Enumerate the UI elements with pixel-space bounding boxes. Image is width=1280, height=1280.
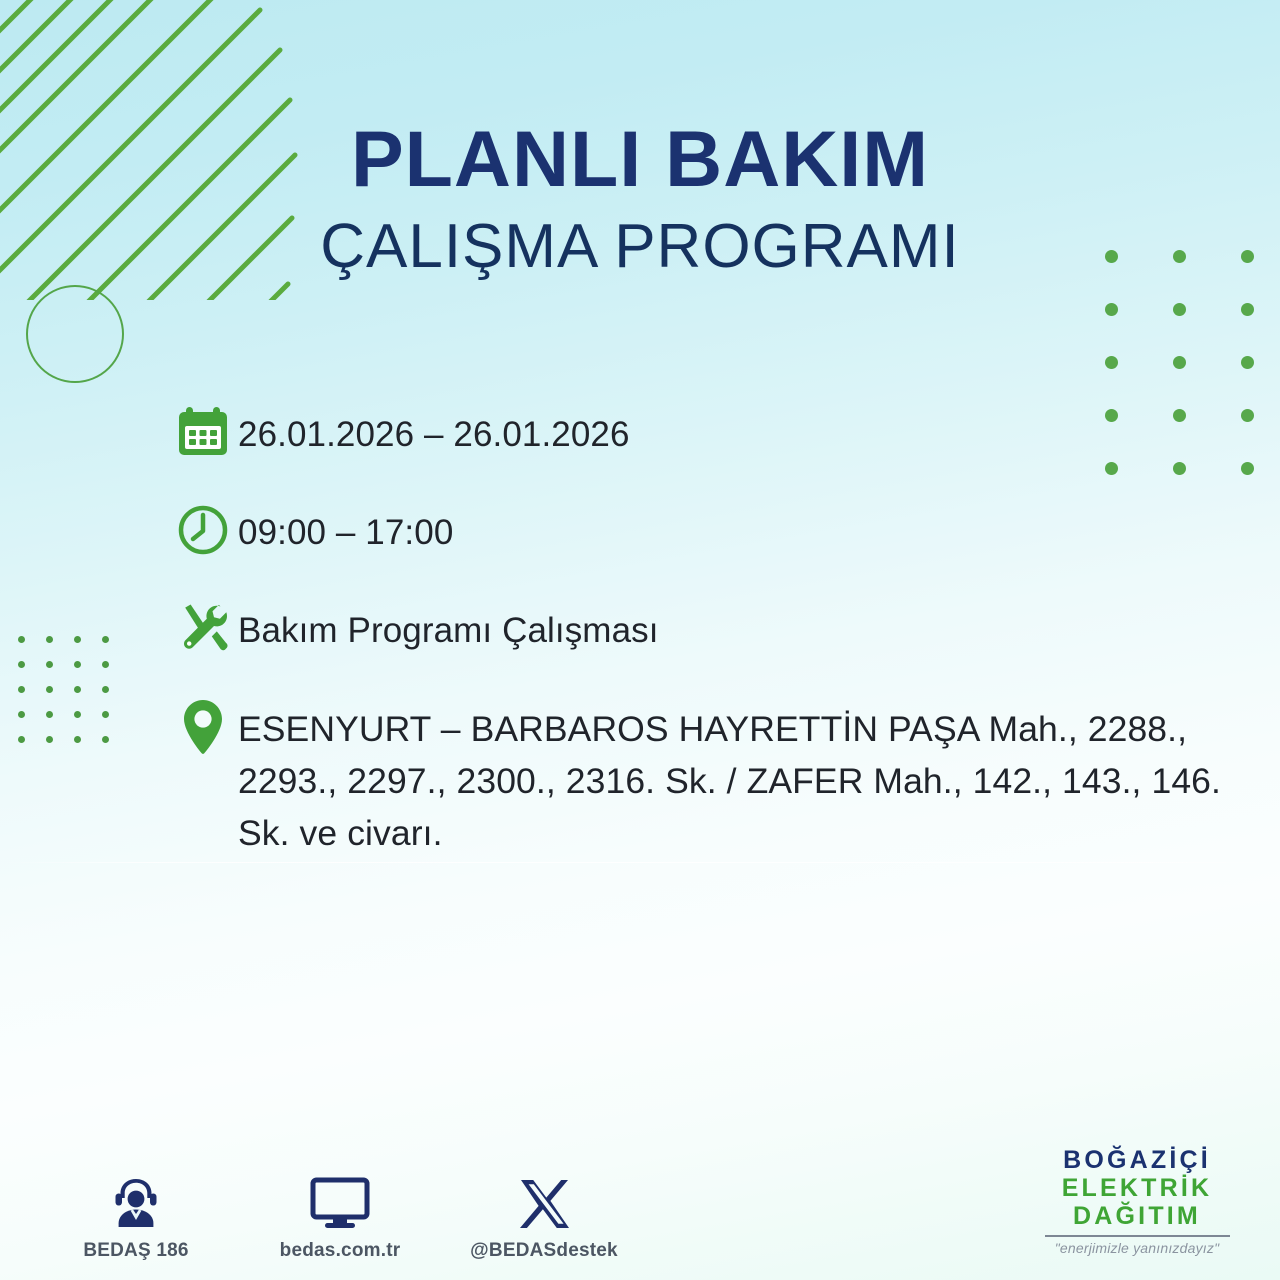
date-range-text: 26.01.2026 – 26.01.2026 xyxy=(238,404,1236,460)
brand-line-bogazici: BOĞAZİÇİ xyxy=(1022,1146,1252,1174)
contact-label-call-center: BEDAŞ 186 xyxy=(83,1240,188,1262)
calendar-icon xyxy=(176,404,238,466)
circle-outline-decoration xyxy=(26,285,124,383)
poster-header: PLANLI BAKIM ÇALIŞMA PROGRAMI xyxy=(0,118,1280,282)
clock-icon xyxy=(176,502,238,564)
page-subtitle: ÇALIŞMA PROGRAMI xyxy=(0,211,1280,282)
maintenance-details: 26.01.2026 – 26.01.2026 09:00 – 17:00 xyxy=(176,404,1236,892)
page-title: PLANLI BAKIM xyxy=(0,118,1280,201)
brand-line-dagitim: DAĞITIM xyxy=(1022,1202,1252,1230)
bedas-logo: BOĞAZİÇİ ELEKTRİK DAĞITIM "enerjimizle y… xyxy=(1022,1146,1252,1256)
contact-call-center[interactable]: BEDAŞ 186 xyxy=(62,1171,210,1262)
brand-line-elektrik: ELEKTRİK xyxy=(1022,1174,1252,1202)
contact-label-website: bedas.com.tr xyxy=(280,1240,401,1262)
x-twitter-icon xyxy=(517,1171,571,1231)
dot-grid-left-decoration xyxy=(18,636,114,740)
planned-maintenance-poster: PLANLI BAKIM ÇALIŞMA PROGRAMI 26 xyxy=(0,0,1280,1280)
poster-footer: BEDAŞ 186 bedas.com.tr xyxy=(0,1120,1280,1280)
contact-website[interactable]: bedas.com.tr xyxy=(266,1171,414,1262)
address-text: ESENYURT – BARBAROS HAYRETTİN PAŞA Mah.,… xyxy=(238,698,1236,860)
contact-channels: BEDAŞ 186 bedas.com.tr xyxy=(62,1171,618,1262)
info-row-date: 26.01.2026 – 26.01.2026 xyxy=(176,404,1236,466)
brand-rule xyxy=(1045,1235,1230,1237)
location-pin-icon xyxy=(176,698,238,760)
info-row-work-type: Bakım Programı Çalışması xyxy=(176,600,1236,662)
info-row-address: ESENYURT – BARBAROS HAYRETTİN PAŞA Mah.,… xyxy=(176,698,1236,860)
info-row-time: 09:00 – 17:00 xyxy=(176,502,1236,564)
time-range-text: 09:00 – 17:00 xyxy=(238,502,1236,558)
headset-agent-icon xyxy=(108,1171,164,1231)
monitor-icon xyxy=(310,1171,370,1231)
contact-label-x-account: @BEDASdestek xyxy=(470,1240,618,1262)
work-type-text: Bakım Programı Çalışması xyxy=(238,600,1236,656)
contact-x-account[interactable]: @BEDASdestek xyxy=(470,1171,618,1262)
tools-icon xyxy=(176,600,238,662)
brand-tagline: "enerjimizle yanınızdayız" xyxy=(1022,1240,1252,1256)
